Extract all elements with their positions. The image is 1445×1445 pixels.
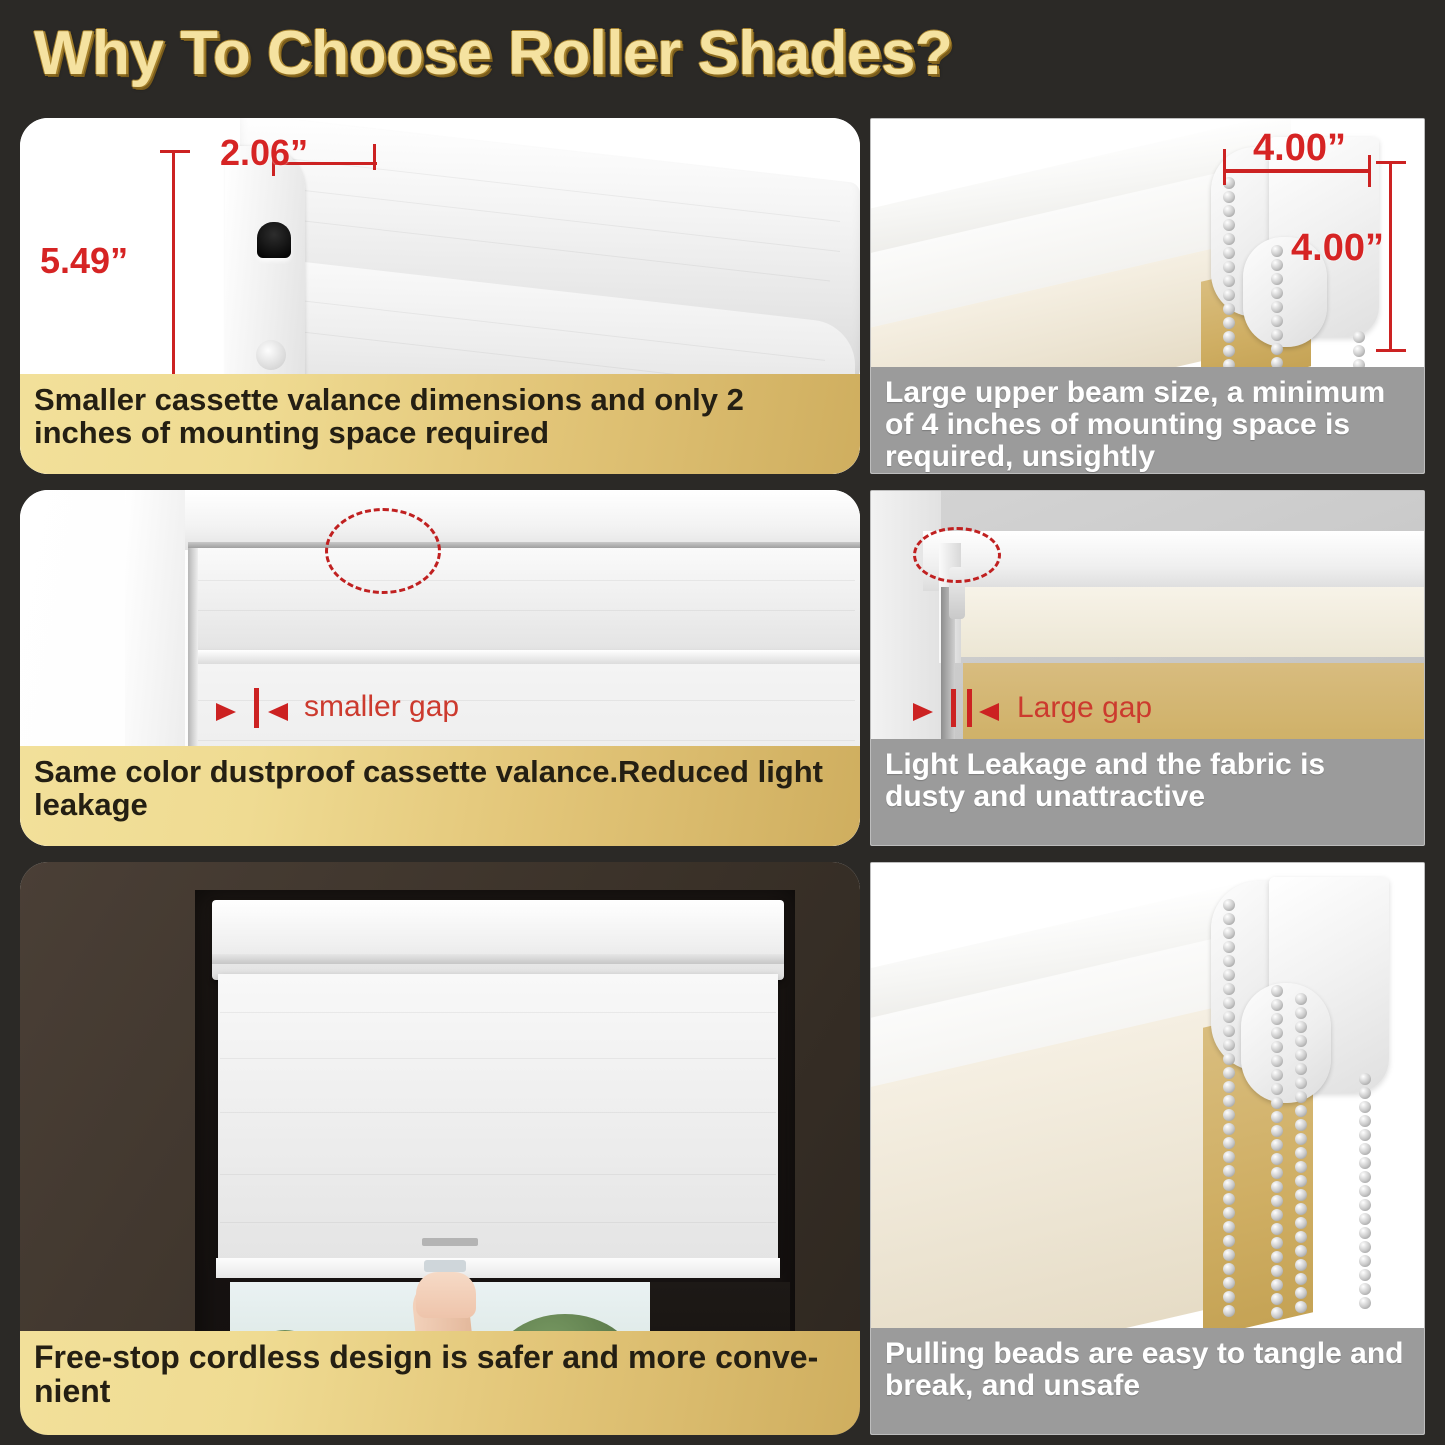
- panel-smaller-cassette[interactable]: 2.06” 5.49” Smaller cassette valance dim…: [20, 118, 860, 474]
- bead-chain-icon[interactable]: [1223, 899, 1235, 1324]
- panel-pulling-beads[interactable]: Pulling beads are easy to tangle and bre…: [870, 862, 1425, 1435]
- dimension-height-label: 5.49”: [40, 240, 128, 282]
- gap-arrow-left-icon: [913, 703, 933, 721]
- panel-2-caption: Large upper beam size, a minimum of 4 in…: [871, 367, 1424, 473]
- gap-highlight-circle: [325, 508, 441, 594]
- dimension-beam-width-label: 4.00”: [1253, 127, 1346, 170]
- panel-cordless-design[interactable]: Free-stop cordless design is safer and m…: [20, 862, 860, 1435]
- panel-5-caption: Free-stop cordless design is safer and m…: [20, 1331, 860, 1435]
- gap-arrow-right-icon: [979, 703, 999, 721]
- bead-chain-icon: [1223, 177, 1235, 377]
- panel-1-caption: Smaller cassette valance dimensions and …: [20, 374, 860, 474]
- brand-logo: [422, 1238, 478, 1246]
- panel-light-leakage[interactable]: Large gap Light Leakage and the fabric i…: [870, 490, 1425, 846]
- bead-chain-icon-2[interactable]: [1271, 985, 1283, 1325]
- large-gap-label: Large gap: [1017, 691, 1152, 725]
- page-title: Why To Choose Roller Shades?: [34, 18, 952, 89]
- bead-chain-icon-4[interactable]: [1359, 1073, 1371, 1323]
- cassette-screw-icon: [256, 340, 286, 370]
- gap-arrow-left-icon: [216, 703, 236, 721]
- panel-large-upper-beam[interactable]: 4.00” 4.00” Large upper beam size, a min…: [870, 118, 1425, 474]
- panel-dustproof-cassette[interactable]: smaller gap Same color dustproof cassett…: [20, 490, 860, 846]
- cassette-slot-icon: [257, 222, 291, 258]
- panel-4-caption: Light Leakage and the fabric is dusty an…: [871, 739, 1424, 845]
- dimension-width-label: 2.06”: [220, 132, 308, 174]
- gap-arrow-right-icon: [268, 703, 288, 721]
- shade-pull-tab[interactable]: [424, 1260, 466, 1272]
- bead-chain-icon-3[interactable]: [1295, 993, 1307, 1323]
- dimension-beam-height-label: 4.00”: [1291, 227, 1384, 270]
- bead-chain-icon-2: [1271, 245, 1283, 385]
- comparison-grid: 2.06” 5.49” Smaller cassette valance dim…: [0, 112, 1445, 1445]
- panel-6-caption: Pulling beads are easy to tangle and bre…: [871, 1328, 1424, 1434]
- gap-highlight-circle: [913, 527, 1001, 583]
- page-header: Why To Choose Roller Shades?: [0, 0, 1445, 112]
- smaller-gap-label: smaller gap: [304, 690, 459, 724]
- panel-3-caption: Same color dustproof cassette valance.Re…: [20, 746, 860, 846]
